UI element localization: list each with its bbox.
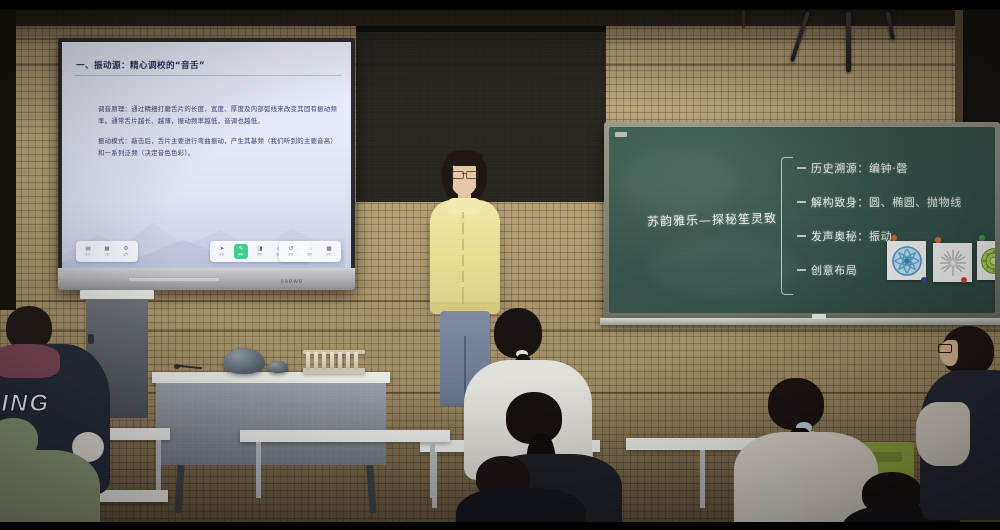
- classroom-scene: 一、振动源：精心调校的“音舌” 调音原理：通过精细打磨舌片的长度、宽度、厚度及内…: [0, 0, 1000, 530]
- letterbox-top: [0, 0, 1000, 9]
- scene-vignette: [0, 0, 1000, 530]
- letterbox-bottom: [0, 522, 1000, 530]
